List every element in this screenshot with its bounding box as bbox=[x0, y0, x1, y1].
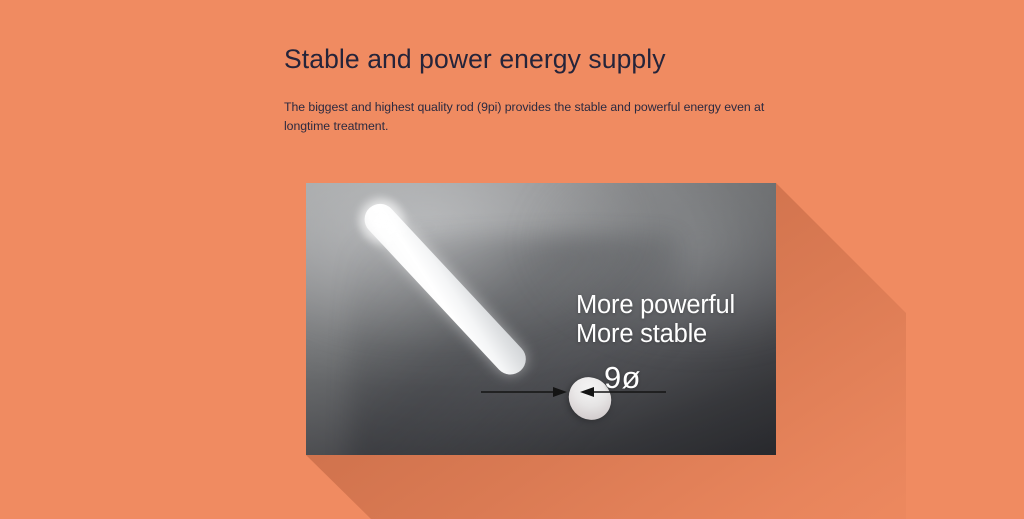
arrow-left-icon bbox=[580, 387, 594, 397]
page-description: The biggest and highest quality rod (9pi… bbox=[284, 98, 806, 135]
dimension-arrow-svg bbox=[481, 383, 666, 401]
text-block: Stable and power energy supply The bigge… bbox=[284, 42, 804, 76]
dimension-arrows bbox=[481, 383, 666, 401]
page-title: Stable and power energy supply bbox=[284, 42, 804, 76]
promo-page: More powerful More stable 9ø Stable and … bbox=[0, 0, 1024, 519]
arrow-right-icon bbox=[553, 387, 567, 397]
product-photo: More powerful More stable 9ø bbox=[306, 183, 776, 455]
photo-overlay-caption: More powerful More stable bbox=[576, 291, 735, 348]
